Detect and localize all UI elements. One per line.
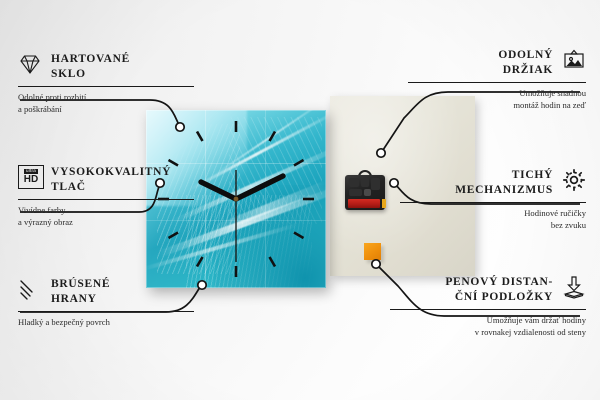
- feature-title-line2: DRŽIAK: [498, 63, 553, 78]
- feature-title-line2: SKLO: [51, 67, 130, 82]
- feature-desc-line1: Hladký a bezpečný povrch: [18, 316, 194, 328]
- feature-desc-line2: a poškrábání: [18, 103, 194, 115]
- feature-ground-edges: BRÚSENÉ HRANY Hladký a bezpečný povrch: [18, 277, 194, 328]
- feature-divider: [390, 309, 586, 310]
- ground-edges-icon: [18, 277, 42, 301]
- feature-title-line2: TLAČ: [51, 180, 171, 195]
- feature-foam-spacers: PENOVÝ DISTAN- ČNÍ PODLOŽKY Umožňuje vám…: [390, 275, 586, 338]
- feature-silent-mechanism: TICHÝ MECHANIZMUS Hodinové ručičky bez z…: [400, 168, 586, 231]
- arrow-down-pad-icon: [562, 275, 586, 299]
- feature-divider: [18, 199, 194, 200]
- feature-divider: [18, 86, 194, 87]
- gear-icon: [562, 168, 586, 192]
- picture-frame-icon: [562, 48, 586, 72]
- feature-title-line2: ČNÍ PODLOŽKY: [445, 290, 553, 305]
- feature-divider: [18, 311, 194, 312]
- feature-title-line2: MECHANIZMUS: [455, 183, 553, 198]
- diamond-icon: [18, 52, 42, 76]
- feature-high-quality-print: ultraHD VYSOKOKVALITNÝ TLAČ Vivídne farb…: [18, 165, 194, 228]
- feature-durable-holder: ODOLNÝ DRŽIAK Umožňuje snadnou montáž ho…: [408, 48, 586, 111]
- wire-endpoint-foam: [372, 260, 380, 268]
- feature-title-line1: TICHÝ: [455, 168, 553, 183]
- wire-endpoint-mechanism: [390, 179, 398, 187]
- feature-desc-line1: Hodinové ručičky: [400, 207, 586, 219]
- feature-title-line1: ODOLNÝ: [498, 48, 553, 63]
- feature-title-line1: HARTOVANÉ: [51, 52, 130, 67]
- feature-title-line1: BRÚSENÉ: [51, 277, 110, 292]
- feature-desc-line1: Umožňuje vám držať hodiny: [390, 314, 586, 326]
- wire-endpoint-glass: [176, 123, 184, 131]
- feature-desc-line1: Umožňuje snadnou: [408, 87, 586, 99]
- wire-endpoint-edges: [198, 281, 206, 289]
- feature-desc-line2: montáž hodin na zeď: [408, 99, 586, 111]
- wire-endpoint-holder: [377, 149, 385, 157]
- feature-title-line1: PENOVÝ DISTAN-: [445, 275, 553, 290]
- feature-desc-line2: v rovnakej vzdialenosti od steny: [390, 326, 586, 338]
- feature-desc-line1: Odolné proti rozbití: [18, 91, 194, 103]
- product-feature-infographic: HARTOVANÉ SKLO Odolné proti rozbití a po…: [0, 0, 600, 400]
- feature-desc-line2: bez zvuku: [400, 219, 586, 231]
- feature-desc-line1: Vivídne farby: [18, 204, 194, 216]
- feature-desc-line2: a výrazný obraz: [18, 216, 194, 228]
- feature-divider: [408, 82, 586, 83]
- ultra-hd-badge-icon: ultraHD: [18, 165, 42, 189]
- feature-title-line1: VYSOKOKVALITNÝ: [51, 165, 171, 180]
- feature-divider: [400, 202, 586, 203]
- feature-title-line2: HRANY: [51, 292, 110, 307]
- feature-tempered-glass: HARTOVANÉ SKLO Odolné proti rozbití a po…: [18, 52, 194, 115]
